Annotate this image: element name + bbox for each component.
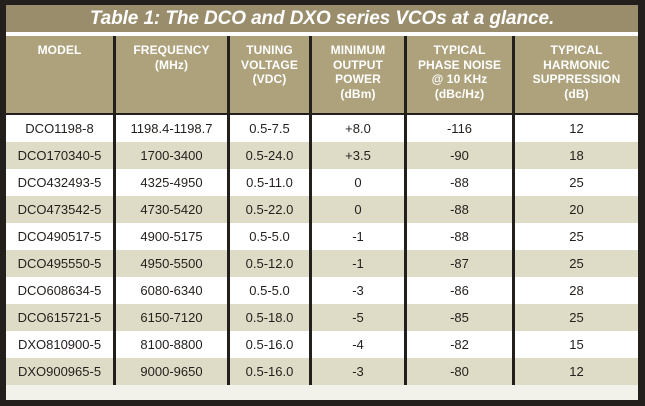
cell-minimum-output-power: 0 xyxy=(309,169,404,196)
cell-minimum-output-power: -1 xyxy=(309,250,404,277)
cell-typical-harmonic-suppression: 15 xyxy=(512,331,638,358)
cell-model: DCO608634-5 xyxy=(6,277,113,304)
column-header-line: MODEL xyxy=(38,43,82,58)
column-header-model: MODEL xyxy=(6,36,113,113)
table-row: DCO432493-54325-49500.5-11.00-8825 xyxy=(6,169,638,196)
cell-minimum-output-power: -4 xyxy=(309,331,404,358)
cell-typical-harmonic-suppression: 12 xyxy=(512,358,638,385)
table-row: DCO608634-56080-63400.5-5.0-3-8628 xyxy=(6,277,638,304)
cell-model: DXO900965-5 xyxy=(6,358,113,385)
column-header-frequency: FREQUENCY(MHz) xyxy=(113,36,227,113)
column-header-label: TUNINGVOLTAGE(VDC) xyxy=(241,43,298,87)
cell-typical-phase-noise: -85 xyxy=(404,304,512,331)
cell-model: DCO1198-8 xyxy=(6,115,113,142)
cell-model: DXO810900-5 xyxy=(6,331,113,358)
table-row: DCO490517-54900-51750.5-5.0-1-8825 xyxy=(6,223,638,250)
cell-minimum-output-power: -3 xyxy=(309,277,404,304)
table-row: DXO810900-58100-88000.5-16.0-4-8215 xyxy=(6,331,638,358)
cell-model: DCO490517-5 xyxy=(6,223,113,250)
column-header-line: @ 10 KHz xyxy=(418,72,501,87)
column-header-line: (dBm) xyxy=(331,87,386,102)
table-row: DCO495550-54950-55000.5-12.0-1-8725 xyxy=(6,250,638,277)
cell-typical-harmonic-suppression: 18 xyxy=(512,142,638,169)
column-header-line: TUNING xyxy=(241,43,298,58)
column-header-label: TYPICALHARMONICSUPPRESSION(dB) xyxy=(533,43,621,101)
column-header-line: VOLTAGE xyxy=(241,58,298,73)
vco-specification-table: Table 1: The DCO and DXO series VCOs at … xyxy=(0,0,645,406)
cell-tuning-voltage: 0.5-5.0 xyxy=(227,277,309,304)
cell-minimum-output-power: +3.5 xyxy=(309,142,404,169)
table-row: DCO473542-54730-54200.5-22.00-8820 xyxy=(6,196,638,223)
table-row: DXO900965-59000-96500.5-16.0-3-8012 xyxy=(6,358,638,385)
column-header-line: (dB) xyxy=(533,87,621,102)
column-header-line: TYPICAL xyxy=(418,43,501,58)
cell-typical-phase-noise: -88 xyxy=(404,196,512,223)
cell-tuning-voltage: 0.5-24.0 xyxy=(227,142,309,169)
cell-frequency: 9000-9650 xyxy=(113,358,227,385)
cell-tuning-voltage: 0.5-12.0 xyxy=(227,250,309,277)
cell-typical-harmonic-suppression: 25 xyxy=(512,304,638,331)
cell-tuning-voltage: 0.5-11.0 xyxy=(227,169,309,196)
cell-typical-phase-noise: -90 xyxy=(404,142,512,169)
table-header-row: MODELFREQUENCY(MHz)TUNINGVOLTAGE(VDC)MIN… xyxy=(6,36,638,113)
cell-model: DCO495550-5 xyxy=(6,250,113,277)
column-header-line: (VDC) xyxy=(241,72,298,87)
cell-typical-phase-noise: -87 xyxy=(404,250,512,277)
column-header-label: MODEL xyxy=(38,43,82,58)
cell-model: DCO615721-5 xyxy=(6,304,113,331)
cell-tuning-voltage: 0.5-5.0 xyxy=(227,223,309,250)
cell-typical-harmonic-suppression: 25 xyxy=(512,250,638,277)
cell-tuning-voltage: 0.5-18.0 xyxy=(227,304,309,331)
column-header-line: MINIMUM xyxy=(331,43,386,58)
cell-typical-harmonic-suppression: 12 xyxy=(512,115,638,142)
column-header-tuning-voltage: TUNINGVOLTAGE(VDC) xyxy=(227,36,309,113)
column-header-line: (MHz) xyxy=(133,58,209,73)
column-header-typical-phase-noise: TYPICALPHASE NOISE@ 10 KHz(dBc/Hz) xyxy=(404,36,512,113)
table-title-bar: Table 1: The DCO and DXO series VCOs at … xyxy=(6,5,638,36)
cell-tuning-voltage: 0.5-16.0 xyxy=(227,331,309,358)
cell-minimum-output-power: 0 xyxy=(309,196,404,223)
cell-frequency: 1700-3400 xyxy=(113,142,227,169)
column-header-label: FREQUENCY(MHz) xyxy=(133,43,209,72)
cell-minimum-output-power: -1 xyxy=(309,223,404,250)
column-header-line: PHASE NOISE xyxy=(418,58,501,73)
column-header-line: OUTPUT xyxy=(331,58,386,73)
cell-model: DCO432493-5 xyxy=(6,169,113,196)
cell-minimum-output-power: +8.0 xyxy=(309,115,404,142)
table-row: DCO170340-51700-34000.5-24.0+3.5-9018 xyxy=(6,142,638,169)
cell-frequency: 6150-7120 xyxy=(113,304,227,331)
cell-typical-phase-noise: -86 xyxy=(404,277,512,304)
table-body: DCO1198-81198.4-1198.70.5-7.5+8.0-11612D… xyxy=(6,113,638,385)
column-header-line: FREQUENCY xyxy=(133,43,209,58)
cell-frequency: 4950-5500 xyxy=(113,250,227,277)
column-header-typical-harmonic-suppression: TYPICALHARMONICSUPPRESSION(dB) xyxy=(512,36,638,113)
cell-frequency: 1198.4-1198.7 xyxy=(113,115,227,142)
cell-frequency: 6080-6340 xyxy=(113,277,227,304)
cell-typical-phase-noise: -82 xyxy=(404,331,512,358)
cell-frequency: 4325-4950 xyxy=(113,169,227,196)
cell-frequency: 4730-5420 xyxy=(113,196,227,223)
cell-model: DCO473542-5 xyxy=(6,196,113,223)
cell-tuning-voltage: 0.5-16.0 xyxy=(227,358,309,385)
cell-typical-phase-noise: -116 xyxy=(404,115,512,142)
cell-typical-harmonic-suppression: 28 xyxy=(512,277,638,304)
cell-frequency: 4900-5175 xyxy=(113,223,227,250)
cell-frequency: 8100-8800 xyxy=(113,331,227,358)
cell-tuning-voltage: 0.5-22.0 xyxy=(227,196,309,223)
cell-model: DCO170340-5 xyxy=(6,142,113,169)
cell-typical-harmonic-suppression: 20 xyxy=(512,196,638,223)
cell-typical-harmonic-suppression: 25 xyxy=(512,223,638,250)
column-header-label: TYPICALPHASE NOISE@ 10 KHz(dBc/Hz) xyxy=(418,43,501,101)
cell-typical-phase-noise: -80 xyxy=(404,358,512,385)
column-header-label: MINIMUMOUTPUTPOWER(dBm) xyxy=(331,43,386,101)
cell-typical-harmonic-suppression: 25 xyxy=(512,169,638,196)
cell-minimum-output-power: -3 xyxy=(309,358,404,385)
cell-typical-phase-noise: -88 xyxy=(404,223,512,250)
table-title: Table 1: The DCO and DXO series VCOs at … xyxy=(90,8,554,30)
table-row: DCO1198-81198.4-1198.70.5-7.5+8.0-11612 xyxy=(6,115,638,142)
cell-typical-phase-noise: -88 xyxy=(404,169,512,196)
column-header-line: SUPPRESSION xyxy=(533,72,621,87)
table-row: DCO615721-56150-71200.5-18.0-5-8525 xyxy=(6,304,638,331)
column-header-line: (dBc/Hz) xyxy=(418,87,501,102)
column-header-line: POWER xyxy=(331,72,386,87)
column-header-line: TYPICAL xyxy=(533,43,621,58)
cell-tuning-voltage: 0.5-7.5 xyxy=(227,115,309,142)
cell-minimum-output-power: -5 xyxy=(309,304,404,331)
column-header-minimum-output-power: MINIMUMOUTPUTPOWER(dBm) xyxy=(309,36,404,113)
column-header-line: HARMONIC xyxy=(533,58,621,73)
